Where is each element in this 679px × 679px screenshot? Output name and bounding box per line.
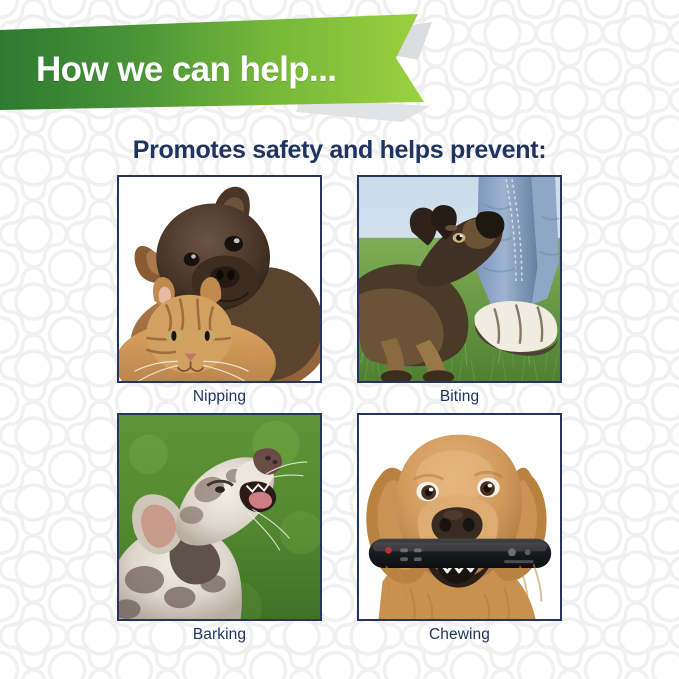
card-nipping[interactable]: Nipping [117, 175, 322, 406]
banner-title: How we can help... [36, 52, 336, 87]
card-caption: Chewing [357, 626, 562, 644]
barking-chihuahua-photo [119, 415, 320, 619]
card-chewing[interactable]: Chewing [357, 413, 562, 644]
card-caption: Nipping [117, 388, 322, 406]
card-barking[interactable]: Barking [117, 413, 322, 644]
photo-frame-biting [357, 175, 562, 383]
puppy-and-kitten-photo [119, 177, 320, 381]
tv-remote-icon [369, 539, 551, 568]
golden-retriever-chewing-remote-photo [359, 415, 560, 619]
card-biting[interactable]: Biting [357, 175, 562, 406]
card-row-top: Nipping [0, 175, 679, 406]
photo-frame-barking [117, 413, 322, 621]
card-row-bottom: Barking [0, 413, 679, 644]
puppy-biting-jeans-photo [359, 177, 560, 381]
prevention-card-grid: Nipping [0, 175, 679, 644]
page-subtitle: Promotes safety and helps prevent: [0, 136, 679, 165]
promo-page: How we can help... Promotes safety and h… [0, 0, 679, 679]
photo-frame-nipping [117, 175, 322, 383]
card-caption: Biting [357, 388, 562, 406]
header-ribbon: How we can help... [0, 14, 440, 126]
card-caption: Barking [117, 626, 322, 644]
photo-frame-chewing [357, 413, 562, 621]
